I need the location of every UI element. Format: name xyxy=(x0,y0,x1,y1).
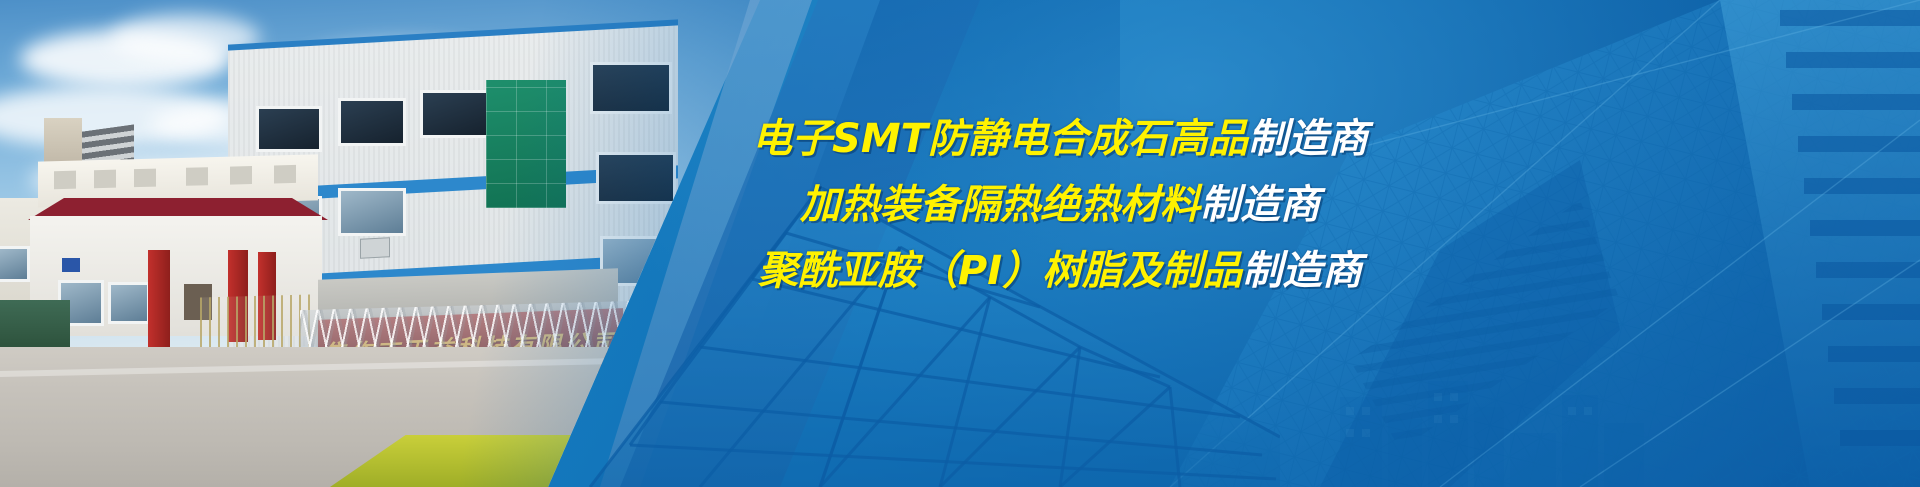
headline-line-3: 聚酰亚胺（PI）树脂及制品制造商 xyxy=(690,251,1430,291)
headline-1-highlight: 电子SMT防静电合成石高品 xyxy=(752,116,1248,162)
headline-block: 电子SMT防静电合成石高品制造商 加热装备隔热绝热材料制造商 聚酰亚胺（PI）树… xyxy=(690,119,1430,291)
headline-3-plain: 制造商 xyxy=(1242,248,1362,294)
headline-2-plain: 制造商 xyxy=(1200,182,1320,228)
promo-banner: 焦作市天益科技有限公司 xyxy=(0,0,1920,487)
headline-1-plain: 制造商 xyxy=(1248,116,1368,162)
headline-line-1: 电子SMT防静电合成石高品制造商 xyxy=(690,119,1430,159)
headline-line-2: 加热装备隔热绝热材料制造商 xyxy=(690,185,1430,225)
skyline-silhouette xyxy=(1340,337,1670,487)
headline-3-highlight: 聚酰亚胺（PI）树脂及制品 xyxy=(758,248,1242,294)
headline-2-highlight: 加热装备隔热绝热材料 xyxy=(800,182,1200,228)
